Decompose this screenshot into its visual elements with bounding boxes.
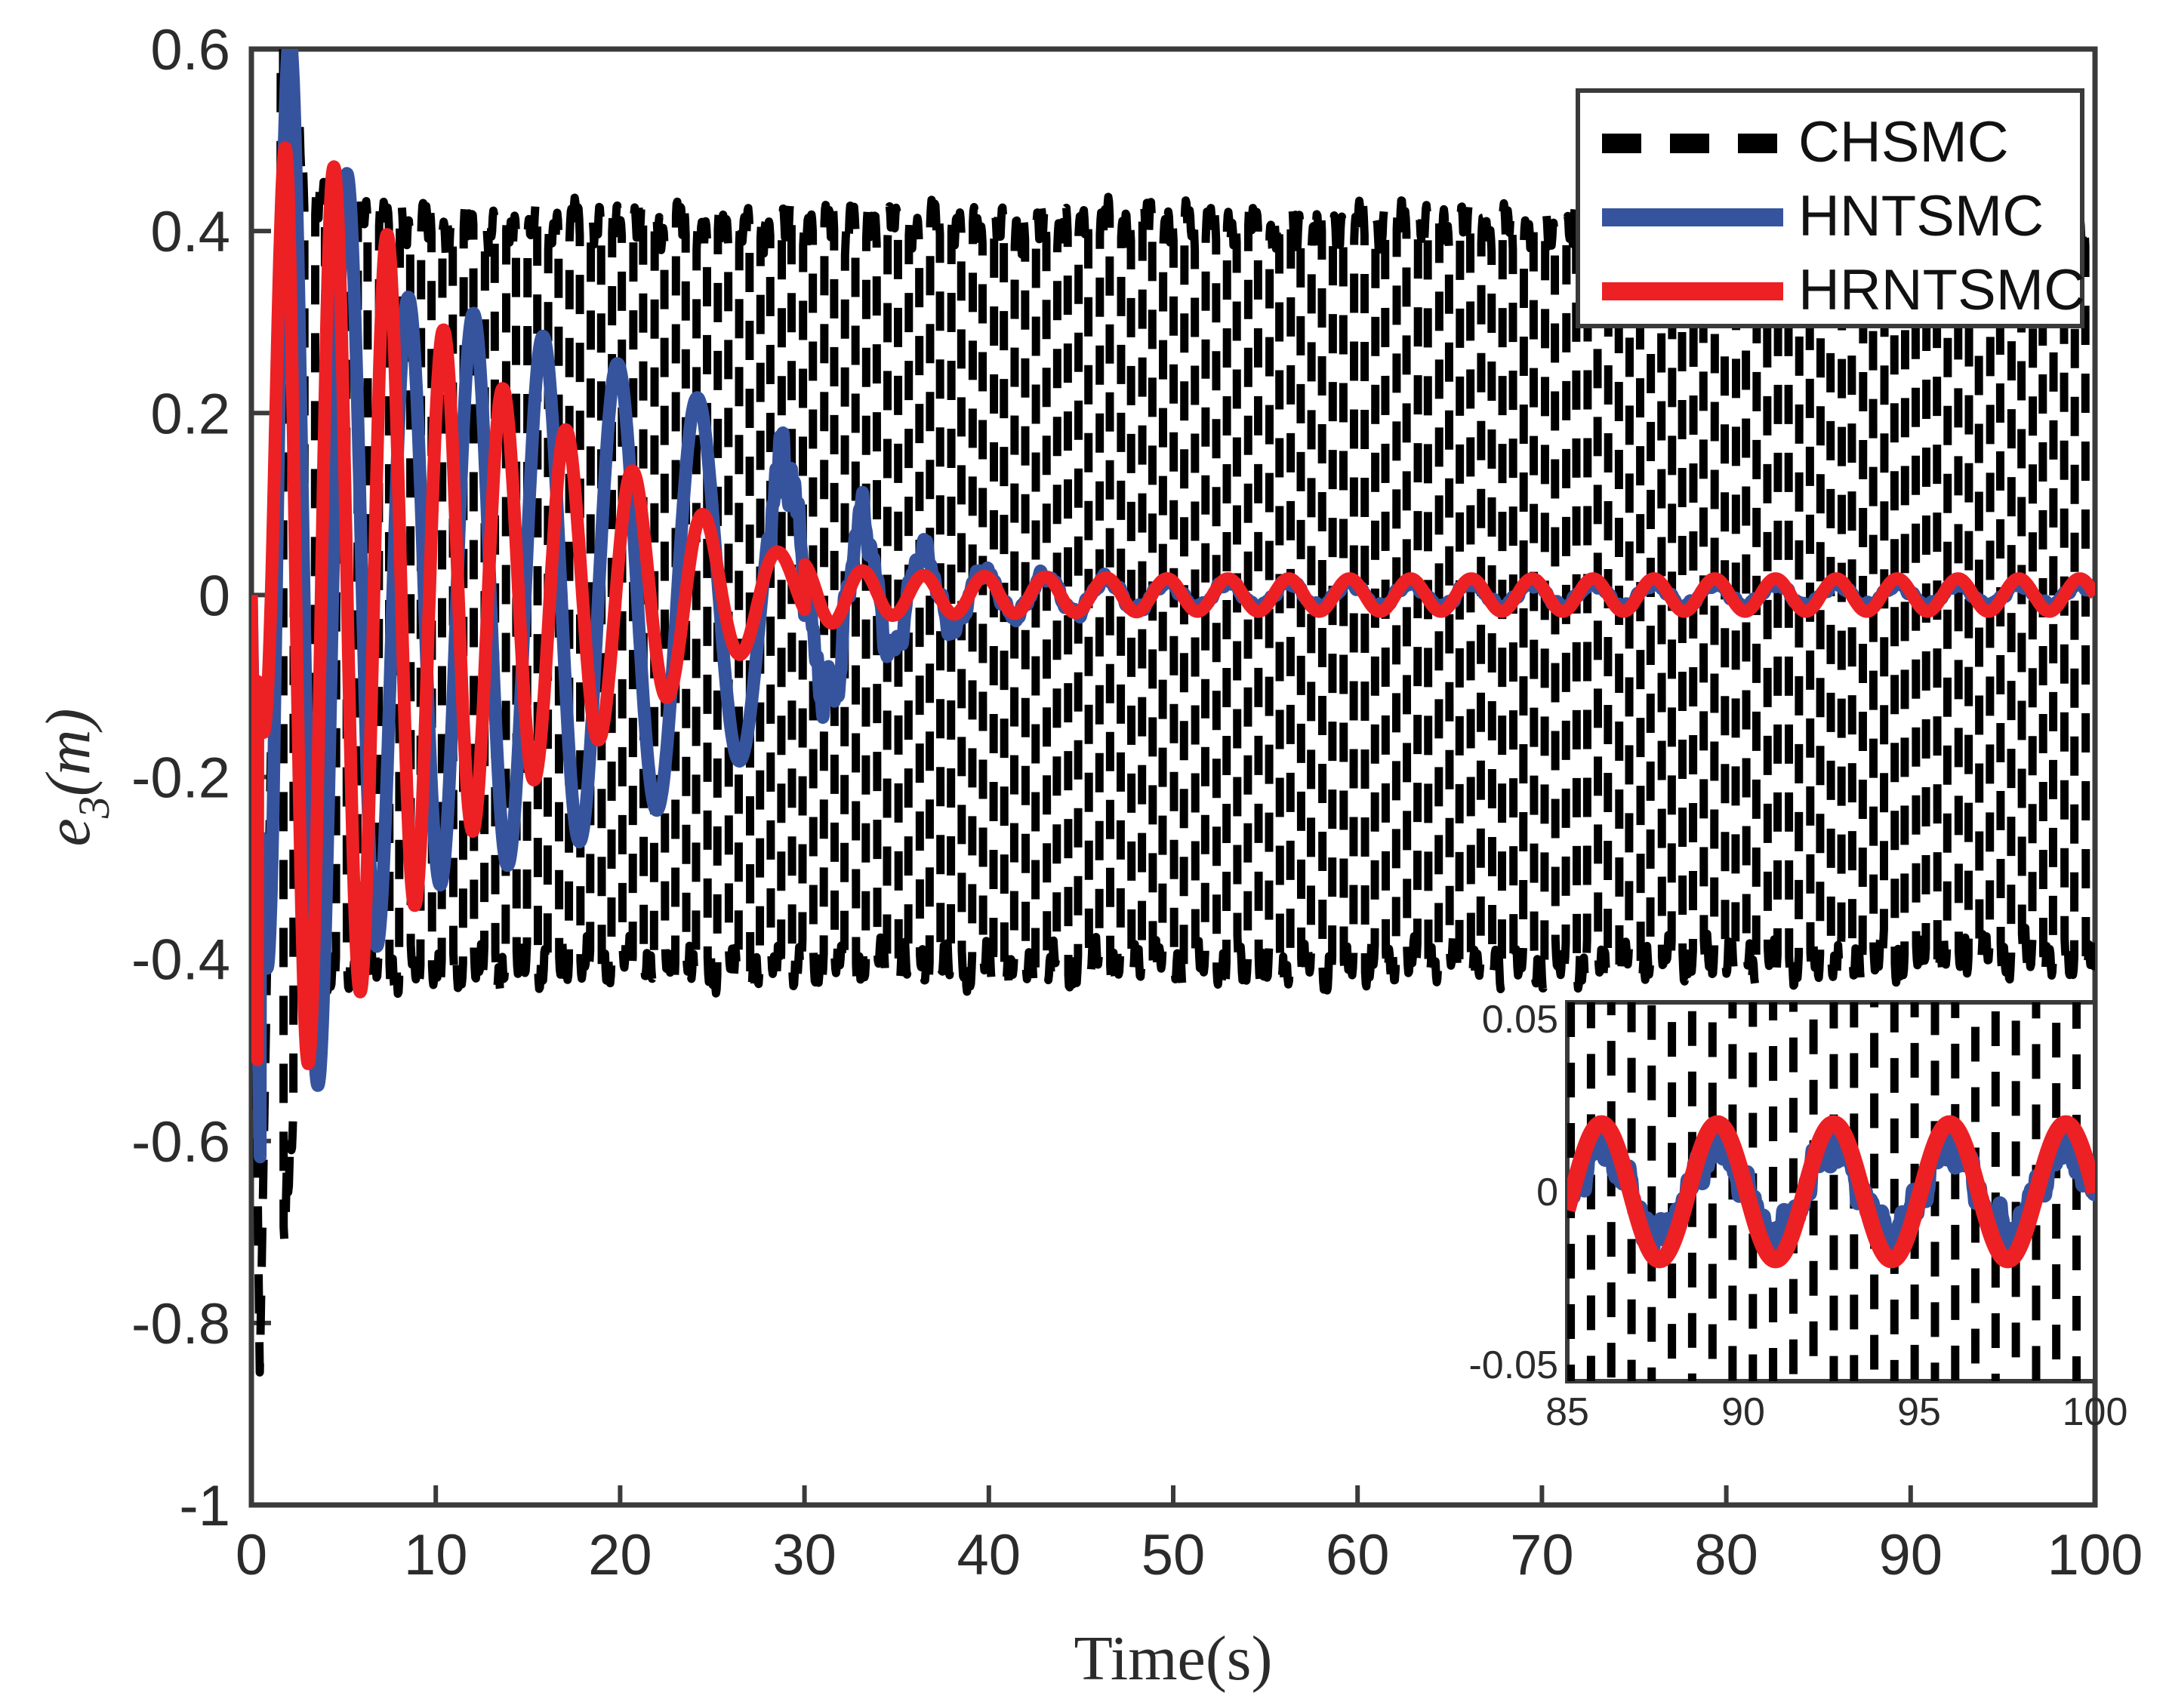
inset-x-tick-label: 90 <box>1721 1390 1765 1434</box>
inset-y-tick-label: 0.05 <box>1482 998 1558 1042</box>
y-tick-label: 0.2 <box>150 382 230 446</box>
x-axis-label: Time(s) <box>1074 1623 1273 1694</box>
inset-x-tick-label: 100 <box>2063 1390 2128 1434</box>
x-tick-label: 40 <box>957 1523 1021 1587</box>
legend-label: HNTSMC <box>1798 184 2044 248</box>
x-tick-label: 80 <box>1694 1523 1758 1587</box>
x-tick-label: 0 <box>236 1523 267 1587</box>
figure-canvas: 0.60.40.20-0.2-0.4-0.6-0.8-1 01020304050… <box>0 0 2169 1708</box>
y-tick-label: 0 <box>199 564 230 628</box>
x-tick-label: 90 <box>1879 1523 1943 1587</box>
legend[interactable]: CHSMCHNTSMCHRNTSMC <box>1578 91 2085 326</box>
legend-label: CHSMC <box>1798 110 2009 174</box>
x-tick-label: 60 <box>1326 1523 1390 1587</box>
x-tick-label: 20 <box>588 1523 652 1587</box>
legend-label: HRNTSMC <box>1798 258 2085 322</box>
y-tick-label: -0.4 <box>131 928 230 992</box>
inset-y-tick-label: -0.05 <box>1468 1343 1558 1387</box>
inset-y-tick-label: 0 <box>1536 1171 1558 1214</box>
x-tick-label: 10 <box>404 1523 468 1587</box>
y-tick-label: -0.8 <box>131 1292 230 1356</box>
y-tick-label: 0.4 <box>150 200 230 264</box>
y-tick-label: 0.6 <box>150 18 230 82</box>
x-tick-label: 50 <box>1141 1523 1206 1587</box>
inset-x-tick-label: 85 <box>1545 1390 1589 1434</box>
y-tick-label: -1 <box>179 1474 230 1538</box>
inset-x-tick-label: 95 <box>1897 1390 1941 1434</box>
x-tick-label: 30 <box>772 1523 836 1587</box>
x-tick-label: 70 <box>1510 1523 1574 1587</box>
y-tick-label: -0.6 <box>131 1110 230 1174</box>
x-tick-label: 100 <box>2047 1523 2143 1587</box>
y-tick-label: -0.2 <box>131 746 230 811</box>
